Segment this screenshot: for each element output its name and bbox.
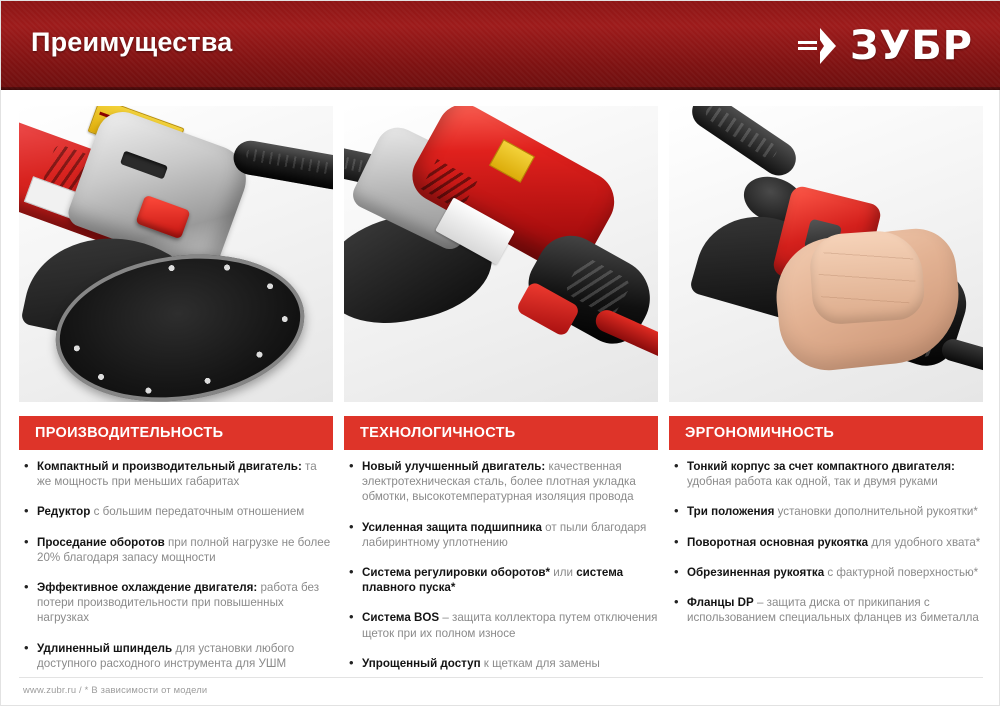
feature-bold: Поворотная основная рукоятка [687,536,868,549]
feature-bold: Проседание оборотов [37,536,165,549]
page-header: Преимущества ЗУБР [1,1,1000,90]
list-item: Проседание оборотов при полной нагрузке … [19,535,333,565]
feature-bold: Компактный и производительный двигатель: [37,460,302,473]
page-title: Преимущества [31,27,233,58]
feature-bold: Усиленная защита подшипника [362,521,542,534]
feature-bold: Фланцы DP [687,596,754,609]
list-item: Эффективное охлаждение двигателя: работа… [19,580,333,626]
side-handle [231,138,333,192]
feature-column-performance: Компактный и производительный двигатель:… [19,459,333,669]
feature-normal: или [550,566,576,579]
feature-bold: Редуктор [37,505,90,518]
feature-normal: с фактурной поверхностью* [824,566,978,579]
feature-bold: Тонкий корпус за счет компактного двигат… [687,460,955,473]
zubr-diamond-arrow-icon [794,24,838,68]
list-item: Компактный и производительный двигатель:… [19,459,333,489]
feature-list-ergonomics: Тонкий корпус за счет компактного двигат… [669,459,983,625]
feature-normal: для удобного хвата* [868,536,980,549]
feature-normal: установки дополнительной рукоятки* [774,505,977,518]
feature-list-technology: Новый улучшенный двигатель: качественная… [344,459,658,671]
section-title-bar-row: ПРОИЗВОДИТЕЛЬНОСТЬ ТЕХНОЛОГИЧНОСТЬ ЭРГОН… [19,416,983,450]
list-item: Новый улучшенный двигатель: качественная… [344,459,658,505]
product-photo-1: Угловая шлифмашина ЗУБР с отрезным диско… [19,106,333,402]
brand-name: ЗУБР [850,26,973,66]
feature-bold: Новый улучшенный двигатель: [362,460,545,473]
footer-text: www.zubr.ru / * В зависимости от модели [23,684,207,695]
list-item: Редуктор с большим передаточным отношени… [19,504,333,519]
feature-bold: Упрощенный доступ [362,657,481,670]
feature-bold: Удлиненный шпиндель [37,642,172,655]
feature-normal: к щеткам для замены [481,657,600,670]
feature-bold: Три положения [687,505,774,518]
brand-logo: ЗУБР [794,24,973,68]
list-item: Упрощенный доступ к щеткам для замены [344,656,658,671]
section-bar-technology: ТЕХНОЛОГИЧНОСТЬ [344,416,658,450]
list-item: Система BOS – защита коллектора путем от… [344,610,658,640]
feature-columns: Компактный и производительный двигатель:… [19,459,983,669]
section-title-ergonomics: ЭРГОНОМИЧНОСТЬ [685,425,834,441]
list-item: Поворотная основная рукоятка для удобног… [669,535,983,550]
finger-creases [816,235,917,320]
list-item: Тонкий корпус за счет компактного двигат… [669,459,983,489]
product-photo-3: Компактная угловая шлифмашина ЗУБР в рук… [669,106,983,402]
section-bar-performance: ПРОИЗВОДИТЕЛЬНОСТЬ [19,416,333,450]
feature-bold: Обрезиненная рукоятка [687,566,824,579]
list-item: Фланцы DP – защита диска от прикипания с… [669,595,983,625]
footer-divider [19,677,983,678]
side-handle [686,106,803,182]
feature-list-performance: Компактный и производительный двигатель:… [19,459,333,671]
section-title-technology: ТЕХНОЛОГИЧНОСТЬ [360,425,516,441]
list-item: Обрезиненная рукоятка с фактурной поверх… [669,565,983,580]
product-photo-2: Угловая шлифмашина ЗУБР, вид корпуса сбо… [344,106,658,402]
feature-column-technology: Новый улучшенный двигатель: качественная… [344,459,658,669]
feature-bold: Эффективное охлаждение двигателя: [37,581,257,594]
list-item: Усиленная защита подшипника от пыли благ… [344,520,658,550]
feature-bold: Система регулировки оборотов* [362,566,550,579]
section-title-performance: ПРОИЗВОДИТЕЛЬНОСТЬ [35,425,223,441]
feature-bold: Система BOS [362,611,439,624]
slide-page: Преимущества ЗУБР [0,0,1000,706]
feature-column-ergonomics: Тонкий корпус за счет компактного двигат… [669,459,983,669]
list-item: Удлиненный шпиндель для установки любого… [19,641,333,671]
list-item: Система регулировки оборотов* или систем… [344,565,658,595]
feature-normal: удобная работа как одной, так и двумя ру… [687,475,938,488]
feature-normal: с большим передаточным отношением [90,505,304,518]
list-item: Три положения установки дополнительной р… [669,504,983,519]
section-bar-ergonomics: ЭРГОНОМИЧНОСТЬ [669,416,983,450]
product-photo-row: Угловая шлифмашина ЗУБР с отрезным диско… [19,106,983,402]
power-cord [939,337,983,378]
